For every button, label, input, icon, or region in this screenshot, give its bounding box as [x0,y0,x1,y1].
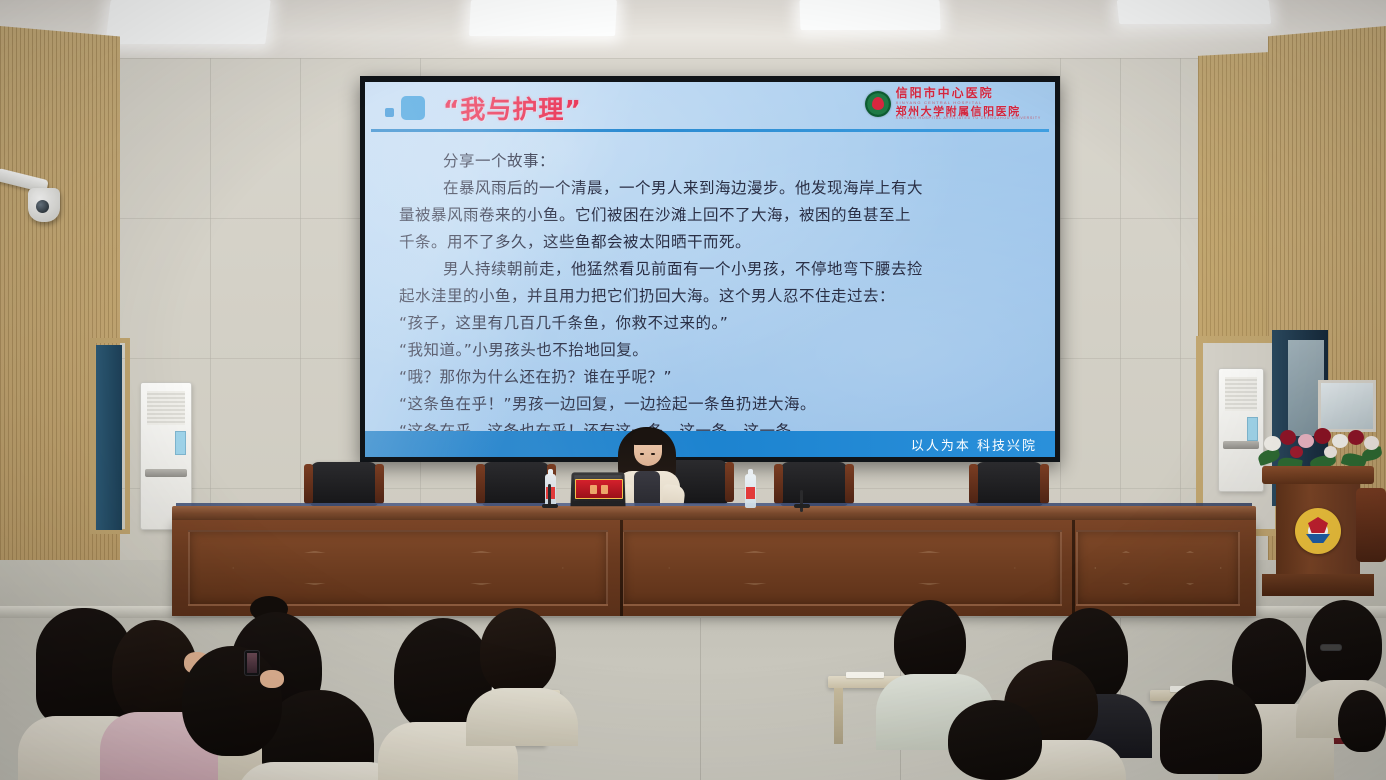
audience-member [1146,680,1278,780]
desk-diamond-motif [668,551,1017,586]
slide-title: “我与护理” [443,90,582,126]
presentation-slide: “我与护理” 信阳市中心医院 XINYANG CENTRAL HOSPITAL … [365,82,1055,457]
slide-line: “我知道。”小男孩头也不抬地回复。 [399,337,1029,364]
audience-member [470,608,574,740]
side-chair[interactable] [1356,488,1386,562]
podium-top [1262,466,1374,484]
audience-desk-leg [834,688,843,744]
hospital-name-line1: 信阳市中心医院 [896,87,1041,100]
slide-footer: 以人为本 科技兴院 [365,431,1055,457]
slide-line: 分享一个故事： [399,148,1029,175]
slide-line: 千条。用不了多久，这些鱼都会被太阳晒干而死。 [399,229,1029,256]
lecture-hall-photo: “我与护理” 信阳市中心医院 XINYANG CENTRAL HOSPITAL … [0,0,1386,780]
slide-line: “孩子，这里有几百几千条鱼，你救不过来的。” [399,310,1029,337]
decor-square-small-icon [385,108,394,117]
desk-diamond-motif [232,551,565,586]
ceiling-light-3 [799,0,940,30]
decor-square-large-icon [401,96,425,120]
ac-vent [145,469,187,477]
chair-5[interactable] [975,462,1043,506]
hospital-crest-icon [865,91,891,117]
water-bottle-2[interactable] [745,474,756,508]
microphone-1[interactable] [548,484,551,506]
door-left[interactable] [96,345,122,530]
hospital-logo: 信阳市中心医院 XINYANG CENTRAL HOSPITAL 郑州大学附属信… [865,87,1041,121]
hospital-logo-text: 信阳市中心医院 XINYANG CENTRAL HOSPITAL 郑州大学附属信… [896,87,1041,121]
podium-base [1262,574,1374,596]
ac-label [175,431,186,455]
header-divider [371,129,1049,132]
chair-4[interactable] [780,462,848,506]
smartphone[interactable] [244,650,260,676]
slide-line: 男人持续朝前走，他猛然看见前面有一个小男孩，不停地弯下腰去捡 [399,256,1029,283]
slide-footer-slogan: 以人为本 科技兴院 [911,435,1055,454]
slide-line: “这条鱼在乎！”男孩一边回复，一边捡起一条鱼扔进大海。 [399,391,1029,418]
chair-1[interactable] [310,462,378,506]
chair-2[interactable] [482,462,550,506]
ac-grill [147,391,185,425]
microphone-base-1 [542,504,558,508]
podium-emblem-icon [1295,508,1341,554]
hospital-name-line2-sub: XINYANG HOSPITAL AFFILIATED TO ZHENGZHOU… [896,117,1041,121]
nameplate [575,479,623,499]
ceiling [0,0,1386,66]
slide-line: 在暴风雨后的一个清晨，一个男人来到海边漫步。他发现海岸上有大 [399,175,1029,202]
ac-grill [1225,377,1257,411]
slide-line: 量被暴风雨卷来的小鱼。它们被困在沙滩上回不了大海，被困的鱼甚至上 [399,202,1029,229]
microphone-base-2 [794,504,810,508]
desk-panel-3 [1076,530,1240,606]
slide-body-text: 分享一个故事： 在暴风雨后的一个清晨，一个男人来到海边漫步。他发现海岸上有大 量… [399,148,1029,445]
camera-lens-icon [36,200,49,213]
ceiling-light-1 [105,0,270,44]
led-display-bezel: “我与护理” 信阳市中心医院 XINYANG CENTRAL HOSPITAL … [360,76,1060,462]
slide-header: “我与护理” 信阳市中心医院 XINYANG CENTRAL HOSPITAL … [365,82,1055,128]
desk-diamond-motif [1094,551,1222,586]
presenter-fringe [631,429,665,445]
desk-panel-2 [622,530,1062,606]
slide-line: “哦？那你为什么还在扔？谁在乎呢？” [399,364,1029,391]
audience-member [1336,690,1386,780]
paper-sheet [846,672,884,678]
desk-panel-1 [188,530,608,606]
ceiling-light-4 [1117,0,1272,24]
microphone-2[interactable] [800,490,803,512]
ceiling-light-2 [469,0,617,36]
audience-member-with-phone [236,640,296,700]
audience-member [938,700,1058,780]
eyeglasses-icon [1320,644,1342,651]
security-camera-icon [28,188,60,222]
slide-line: 起水洼里的小鱼，并且用力把它们扔回大海。这个男人忍不住走过去： [399,283,1029,310]
